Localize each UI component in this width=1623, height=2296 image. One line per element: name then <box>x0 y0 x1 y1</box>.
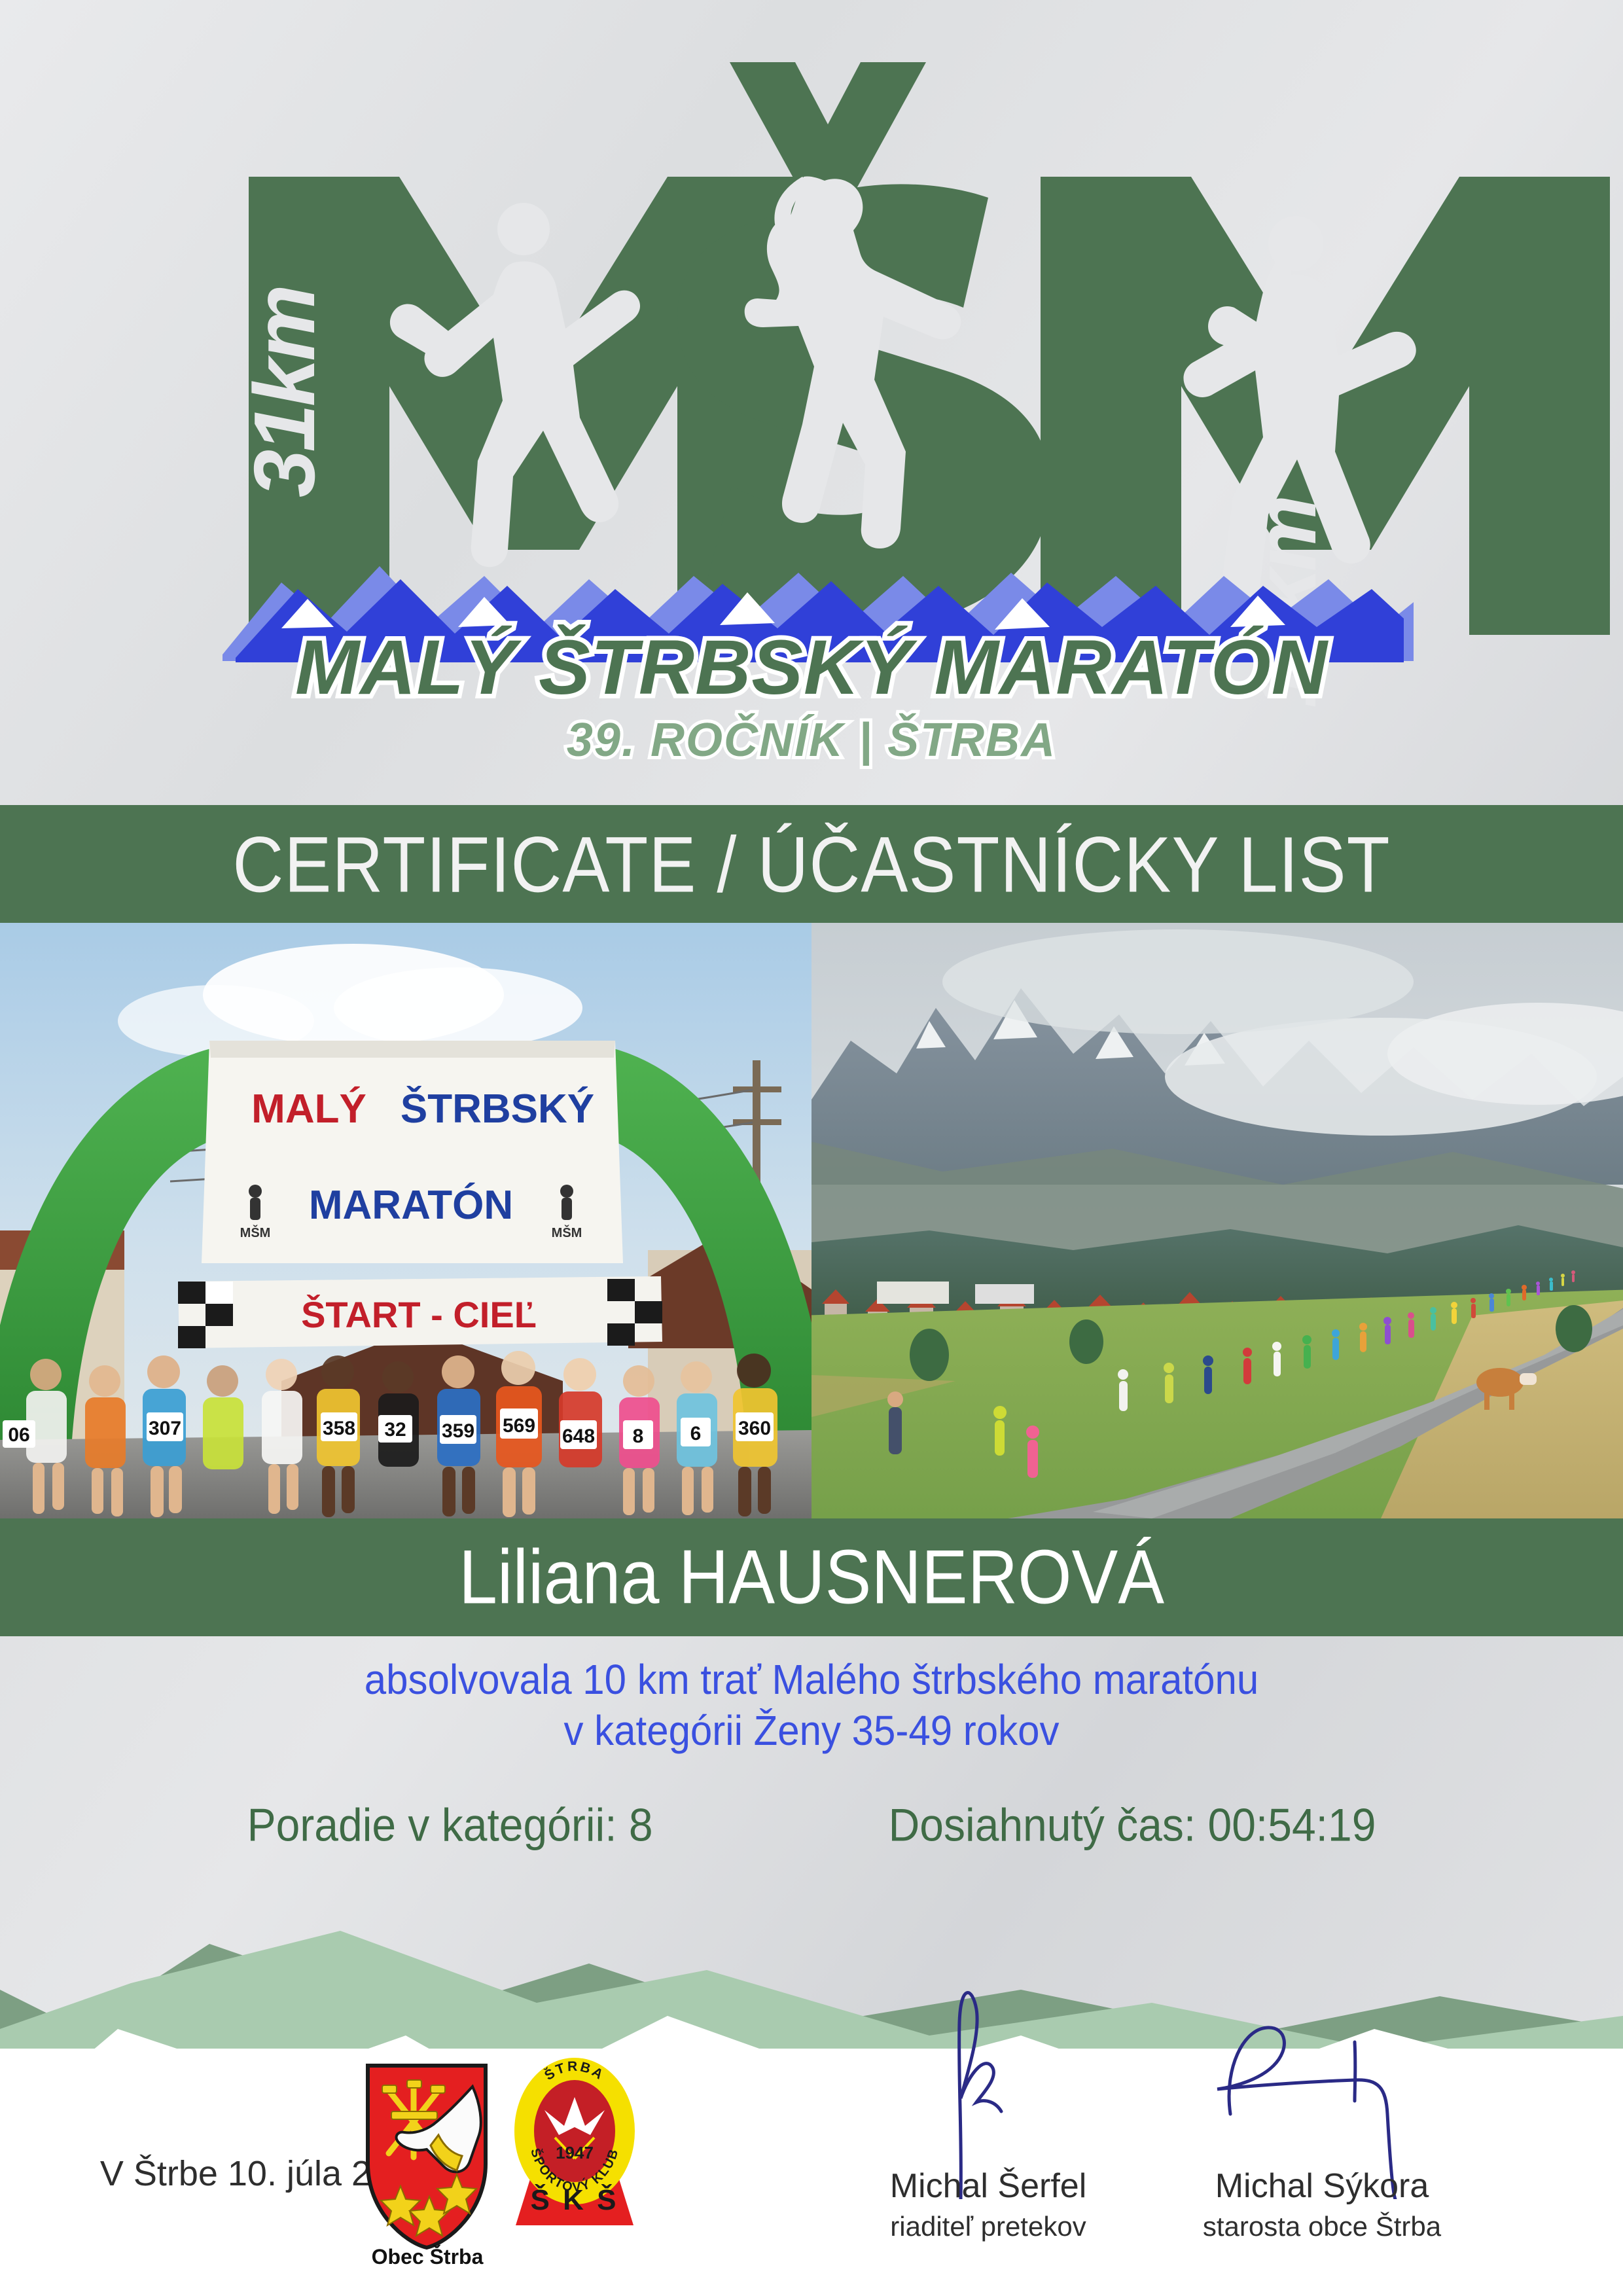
certificate-title-banner: CERTIFICATE / ÚČASTNÍCKY LIST <box>0 805 1623 923</box>
logo-event-subtitle: 39. ROČNÍK | ŠTRBA <box>567 713 1056 766</box>
signatory-role: riaditeľ pretekov <box>805 2211 1171 2242</box>
bib-number: 358 <box>323 1418 355 1439</box>
signatory-role: starosta obce Štrba <box>1139 2211 1505 2242</box>
crest-label: Obec Štrba <box>340 2245 514 2269</box>
bib-number: 6 <box>690 1423 702 1444</box>
bib-number: 359 <box>442 1420 474 1442</box>
logo-distance-left: 31km <box>236 287 332 497</box>
bib-number: 360 <box>738 1418 771 1439</box>
results-row: Poradie v kategórii: 8 Dosiahnutý čas: 0… <box>0 1798 1623 1851</box>
arch-text-maly: MALÝ <box>251 1086 366 1132</box>
bib-number: 648 <box>562 1426 595 1447</box>
footer: V Štrbe 10. júla 2016 Obec <box>0 2049 1623 2296</box>
sks-abbrev: Š K Š <box>531 2183 619 2216</box>
bib-number: 307 <box>149 1418 181 1439</box>
spectator <box>887 1391 903 1454</box>
photo-strip: MALÝ ŠTRBSKÝ MARATÓN MŠM MŠM <box>0 923 1623 1518</box>
participant-name: Liliana HAUSNEROVÁ <box>459 1534 1164 1621</box>
bib-number: 8 <box>633 1426 644 1447</box>
participant-name-banner: Liliana HAUSNEROVÁ <box>0 1518 1623 1636</box>
finish-time: Dosiahnutý čas: 00:54:19 <box>889 1798 1376 1851</box>
category-rank: Poradie v kategórii: 8 <box>247 1798 653 1851</box>
certificate-title: CERTIFICATE / ÚČASTNÍCKY LIST <box>232 818 1390 910</box>
msm-logo-svg: 31km 10km <box>0 0 1623 805</box>
arch-text-strbsky: ŠTRBSKÝ <box>401 1086 594 1132</box>
description-line-1: absolvovala 10 km trať Malého štrbského … <box>0 1655 1623 1706</box>
photo-tatras-course <box>811 923 1623 1518</box>
arch-text-maraton: MARATÓN <box>309 1183 513 1228</box>
bib-number: 06 <box>8 1424 29 1446</box>
signatory-name: Michal Šerfel <box>805 2166 1171 2206</box>
certificate-page: 31km 10km <box>0 0 1623 2296</box>
event-logo-block: 31km 10km <box>0 0 1623 805</box>
bib-number: 32 <box>384 1419 406 1441</box>
svg-text:MŠM: MŠM <box>240 1225 271 1240</box>
sks-club-emblem-icon: 1947 ŠTRBA ŠPORTOVÝ KLUB Š K Š <box>509 2054 640 2244</box>
bib-number: 569 <box>503 1415 535 1437</box>
arch-banner-start-finish: ŠTART - CIEĽ <box>301 1294 537 1335</box>
svg-text:MŠM: MŠM <box>552 1225 582 1240</box>
sks-year: 1947 <box>556 2143 594 2162</box>
obec-strba-crest-icon <box>361 2062 492 2251</box>
photo-start-line: MALÝ ŠTRBSKÝ MARATÓN MŠM MŠM <box>0 923 811 1518</box>
logo-event-title: MALÝ ŠTRBSKÝ MARATÓN <box>295 624 1329 711</box>
signatory-name: Michal Sýkora <box>1139 2166 1505 2206</box>
description-line-2: v kategórii Ženy 35-49 rokov <box>0 1706 1623 1757</box>
